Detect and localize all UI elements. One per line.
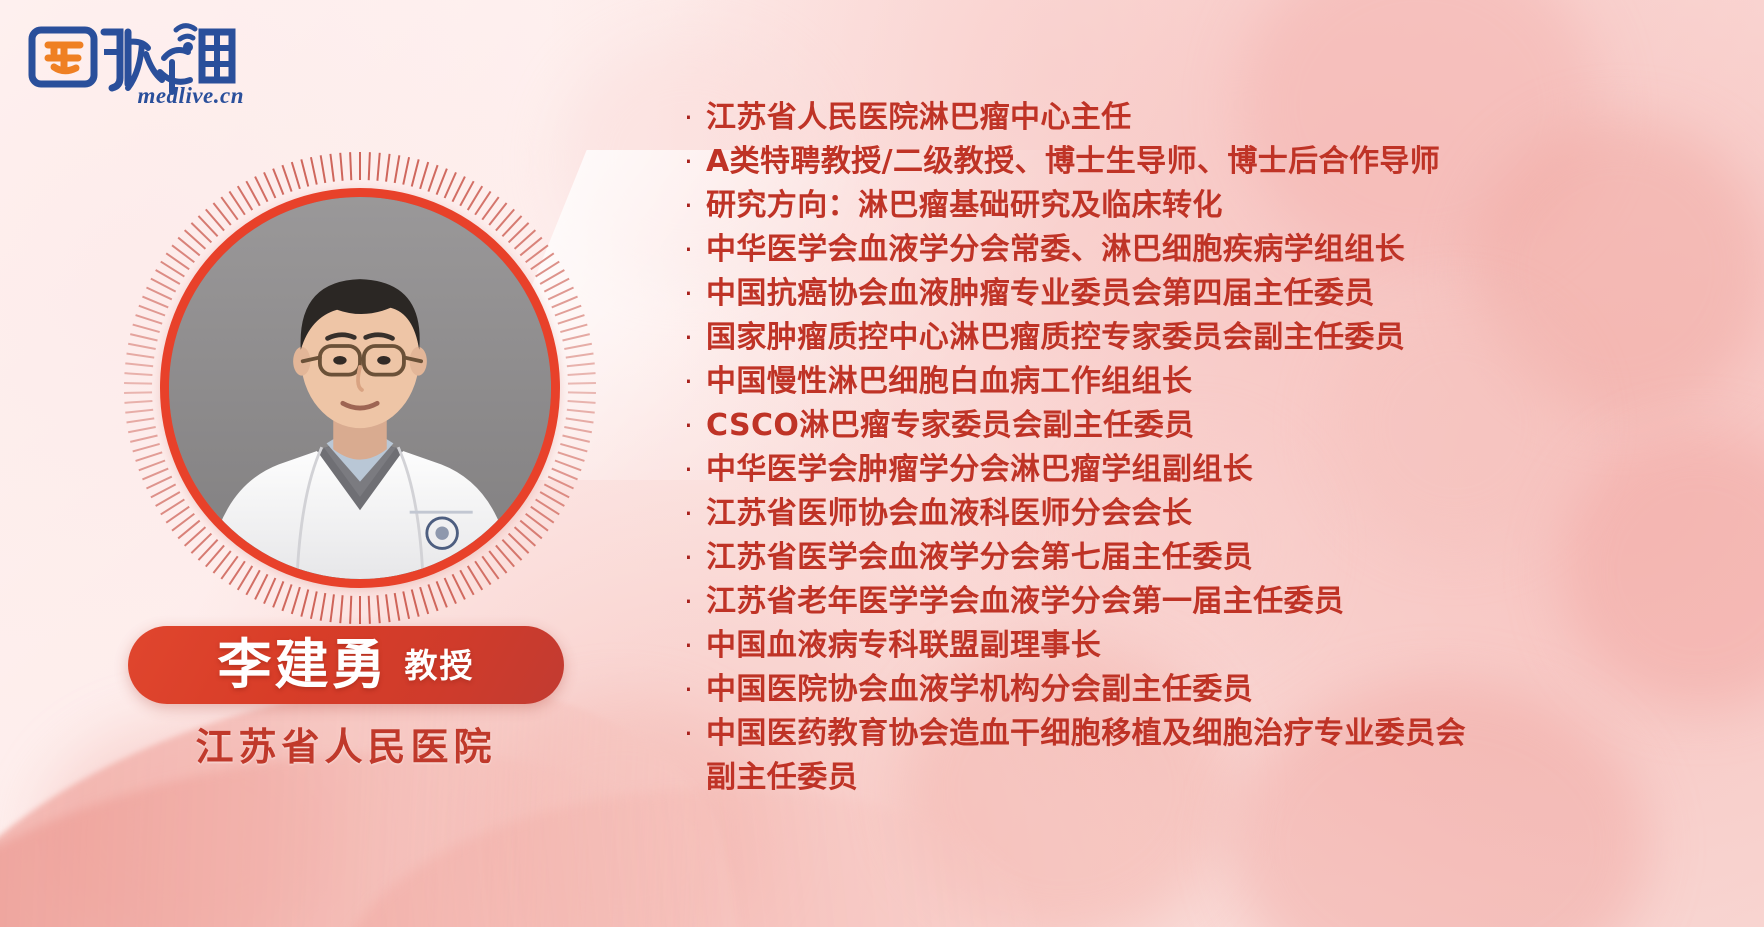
logo-domain-text: medlive.cn (137, 83, 244, 109)
bullet-icon: · (684, 140, 706, 184)
avatar (169, 197, 551, 579)
credential-text: 江苏省人民医院淋巴瘤中心主任 (706, 96, 1132, 140)
bullet-icon: · (684, 316, 706, 360)
credential-text: 副主任委员 (706, 756, 858, 800)
credential-item: ·中华医学会肿瘤学分会淋巴瘤学组副组长 (684, 448, 1744, 492)
credential-item: ·中国血液病专科联盟副理事长 (684, 624, 1744, 668)
credential-text: 江苏省老年医学学会血液学分会第一届主任委员 (706, 580, 1344, 624)
credential-item: ·江苏省医学会血液学分会第七届主任委员 (684, 536, 1744, 580)
credential-item: ·江苏省人民医院淋巴瘤中心主任 (684, 96, 1744, 140)
bullet-icon: · (684, 580, 706, 624)
credential-text: 中华医学会血液学分会常委、淋巴细胞疾病学组组长 (706, 228, 1405, 272)
credential-item: ·CSCO淋巴瘤专家委员会副主任委员 (684, 404, 1744, 448)
credential-item: 副主任委员 (684, 756, 1744, 800)
speaker-title: 教授 (405, 649, 475, 682)
bullet-icon: · (684, 536, 706, 580)
credential-item: ·中国医药教育协会造血干细胞移植及细胞治疗专业委员会 (684, 712, 1744, 756)
credential-text: 江苏省医学会血液学分会第七届主任委员 (706, 536, 1253, 580)
credential-item: ·中国抗癌协会血液肿瘤专业委员会第四届主任委员 (684, 272, 1744, 316)
credential-item: ·研究方向：淋巴瘤基础研究及临床转化 (684, 184, 1744, 228)
credential-item: ·江苏省老年医学学会血液学分会第一届主任委员 (684, 580, 1744, 624)
bullet-icon: · (684, 404, 706, 448)
bullet-icon: · (684, 228, 706, 272)
credential-text: 中国医药教育协会造血干细胞移植及细胞治疗专业委员会 (706, 712, 1466, 756)
medlive-logo: medlive.cn (24, 14, 244, 110)
bullet-icon: · (684, 448, 706, 492)
bullet-icon: · (684, 492, 706, 536)
slide-canvas: medlive.cn (0, 0, 1764, 927)
credential-text: CSCO淋巴瘤专家委员会副主任委员 (706, 404, 1195, 448)
credential-item: ·A类特聘教授/二级教授、博士生导师、博士后合作导师 (684, 140, 1744, 184)
credential-text: 研究方向：淋巴瘤基础研究及临床转化 (706, 184, 1223, 228)
bullet-icon: · (684, 272, 706, 316)
credential-text: 中国血液病专科联盟副理事长 (706, 624, 1101, 668)
speaker-name: 李建勇 (218, 638, 389, 692)
speaker-portrait-block (120, 148, 600, 638)
speaker-photo-icon (169, 197, 551, 579)
credentials-list: ·江苏省人民医院淋巴瘤中心主任·A类特聘教授/二级教授、博士生导师、博士后合作导… (684, 96, 1744, 800)
credential-item: ·中国医院协会血液学机构分会副主任委员 (684, 668, 1744, 712)
credential-text: 江苏省医师协会血液科医师分会会长 (706, 492, 1192, 536)
credential-text: 中国慢性淋巴细胞白血病工作组组长 (706, 360, 1192, 404)
credential-item: ·中国慢性淋巴细胞白血病工作组组长 (684, 360, 1744, 404)
credential-item: ·江苏省医师协会血液科医师分会会长 (684, 492, 1744, 536)
credential-text: 中华医学会肿瘤学分会淋巴瘤学组副组长 (706, 448, 1253, 492)
credential-text: 国家肿瘤质控中心淋巴瘤质控专家委员会副主任委员 (706, 316, 1405, 360)
bullet-icon: · (684, 624, 706, 668)
speaker-affiliation: 江苏省人民医院 (128, 716, 564, 771)
bullet-icon: · (684, 668, 706, 712)
credential-text: 中国医院协会血液学机构分会副主任委员 (706, 668, 1253, 712)
speaker-name-badge: 李建勇 教授 (128, 626, 564, 704)
credential-text: 中国抗癌协会血液肿瘤专业委员会第四届主任委员 (706, 272, 1375, 316)
bullet-icon: · (684, 360, 706, 404)
credential-text: A类特聘教授/二级教授、博士生导师、博士后合作导师 (706, 140, 1440, 184)
avatar-ring (160, 188, 560, 588)
bullet-icon: · (684, 96, 706, 140)
bullet-icon: · (684, 712, 706, 756)
credential-item: ·国家肿瘤质控中心淋巴瘤质控专家委员会副主任委员 (684, 316, 1744, 360)
credential-item: ·中华医学会血液学分会常委、淋巴细胞疾病学组组长 (684, 228, 1744, 272)
bullet-icon: · (684, 184, 706, 228)
